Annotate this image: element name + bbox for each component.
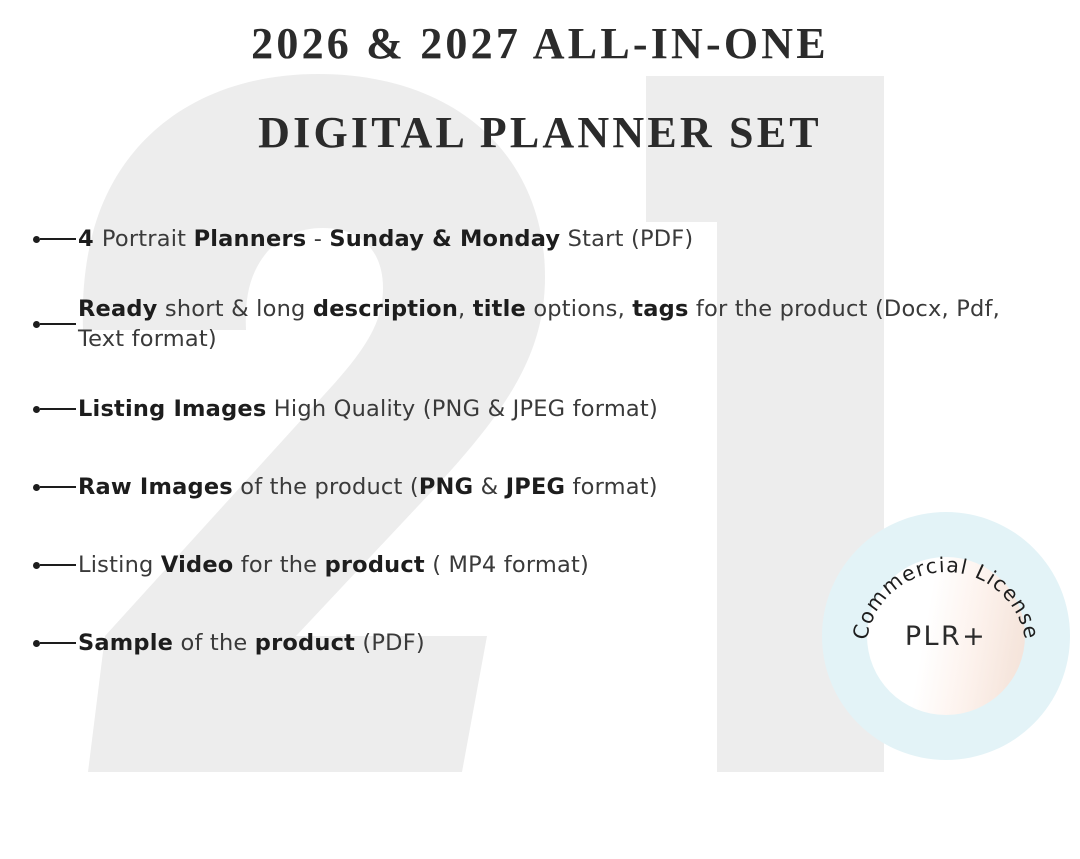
title-block: 2026 & 2027 ALL-IN-ONE DIGITAL PLANNER S… [0,0,1080,155]
dot-dash-bullet-icon [0,321,78,328]
list-item-text: Raw Images of the product (PNG & JPEG fo… [78,472,1010,502]
badge-center-label: PLR+ [822,512,1070,760]
page-title-line-1: 2026 & 2027 ALL-IN-ONE [0,22,1080,66]
dot-dash-bullet-icon [0,406,78,413]
dot-dash-bullet-icon [0,236,78,243]
list-item: Ready short & long description, title op… [0,290,1010,358]
list-item: 4 Portrait Planners - Sunday & Monday St… [0,212,1010,266]
dot-dash-bullet-icon [0,562,78,569]
list-item-text: Listing Images High Quality (PNG & JPEG … [78,394,1010,424]
list-item: Listing Images High Quality (PNG & JPEG … [0,382,1010,436]
commercial-license-badge: Commercial License PLR+ [822,512,1070,760]
list-item-text: Ready short & long description, title op… [78,294,1010,354]
promo-graphic: 2026 & 2027 ALL-IN-ONE DIGITAL PLANNER S… [0,0,1080,859]
dot-dash-bullet-icon [0,640,78,647]
page-title-line-2: DIGITAL PLANNER SET [0,111,1080,155]
list-item: Raw Images of the product (PNG & JPEG fo… [0,460,1010,514]
dot-dash-bullet-icon [0,484,78,491]
list-item-text: 4 Portrait Planners - Sunday & Monday St… [78,224,1010,254]
